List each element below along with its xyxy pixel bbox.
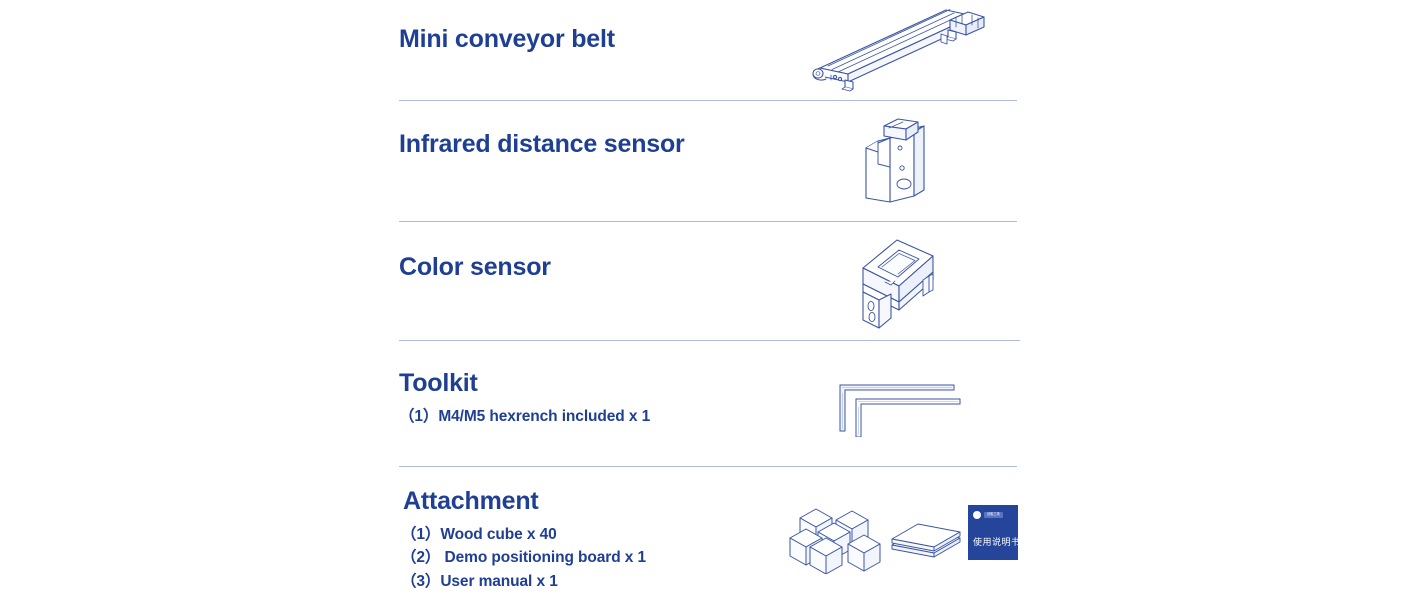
list-item: （3）User manual x 1 [401, 570, 646, 594]
section-infrared-distance-sensor: Infrared distance sensor [0, 104, 1420, 222]
color-sensor-illustration [845, 228, 941, 334]
conveyor-belt-illustration [798, 4, 990, 92]
section-heading: Mini conveyor belt [399, 26, 615, 54]
section-toolkit: Toolkit （1）M4/M5 hexrench included x 1 [0, 341, 1420, 466]
section-text-column: Attachment （1）Wood cube x 40 （2） Demo po… [403, 488, 646, 593]
manual-logo-text: 创客工场 [984, 512, 1003, 517]
user-manual-illustration: 创客工场 使用说明书 [968, 505, 1018, 560]
section-divider [399, 100, 1017, 101]
manual-logo: 创客工场 [973, 511, 1013, 519]
section-heading: Toolkit [399, 370, 650, 398]
section-mini-conveyor-belt: Mini conveyor belt [0, 0, 1420, 104]
section-item-list: （1）Wood cube x 40 （2） Demo positioning b… [401, 523, 646, 594]
positioning-board-illustration [888, 518, 964, 560]
list-item: （2） Demo positioning board x 1 [401, 546, 646, 570]
section-heading: Attachment [403, 488, 646, 516]
section-heading: Infrared distance sensor [399, 131, 685, 159]
section-item-list: （1）M4/M5 hexrench included x 1 [399, 405, 650, 429]
section-text-column: Infrared distance sensor [399, 131, 685, 159]
wood-cubes-illustration [786, 502, 886, 574]
infrared-distance-sensor-illustration [858, 114, 928, 206]
parts-list-sheet: Mini conveyor belt [0, 0, 1420, 600]
section-color-sensor: Color sensor [0, 222, 1420, 341]
list-item: （1）Wood cube x 40 [401, 523, 646, 547]
section-attachment: Attachment （1）Wood cube x 40 （2） Demo po… [0, 466, 1420, 600]
section-text-column: Toolkit （1）M4/M5 hexrench included x 1 [399, 370, 650, 428]
section-text-column: Mini conveyor belt [399, 26, 615, 54]
section-heading: Color sensor [399, 254, 551, 282]
hex-wrench-illustration [830, 381, 964, 437]
manual-title: 使用说明书 [973, 535, 1013, 548]
list-item: （1）M4/M5 hexrench included x 1 [399, 405, 650, 429]
logo-mark-icon [973, 511, 981, 519]
section-text-column: Color sensor [399, 254, 551, 282]
